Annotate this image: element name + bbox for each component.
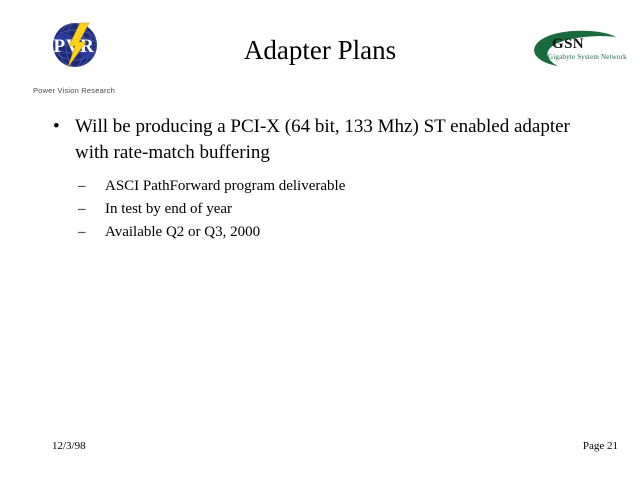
bullet-level2-text: Available Q2 or Q3, 2000 [105, 224, 260, 240]
bullet-level1-text: Will be producing a PCI-X (64 bit, 133 M… [75, 116, 570, 163]
footer-date: 12/3/98 [52, 440, 86, 452]
gsn-logo: GSN Gigabyte System Network [524, 28, 628, 74]
sub-bullet-list: – ASCI PathForward program deliverable –… [0, 175, 640, 244]
bullet-level2: – In test by end of year [0, 198, 640, 221]
slide-body: • Will be producing a PCI-X (64 bit, 133… [0, 114, 640, 244]
bullet-level2-text: In test by end of year [105, 201, 232, 217]
bullet-level2: – Available Q2 or Q3, 2000 [0, 221, 640, 244]
presentation-slide: P V R Power Vision Research Adapter Plan… [0, 0, 640, 480]
bullet-level2-text: ASCI PathForward program deliverable [105, 178, 345, 194]
bullet-marker-icon: • [53, 114, 60, 140]
bullet-level2: – ASCI PathForward program deliverable [0, 175, 640, 198]
dash-marker-icon: – [78, 175, 86, 198]
bullet-level1: • Will be producing a PCI-X (64 bit, 133… [0, 114, 585, 166]
gsn-logo-text: GSN [552, 36, 584, 53]
gsn-logo-subtitle: Gigabyte System Network [548, 53, 627, 61]
dash-marker-icon: – [78, 221, 86, 244]
dash-marker-icon: – [78, 198, 86, 221]
pvr-logo-tagline: Power Vision Research [18, 86, 130, 95]
footer-page-number: Page 21 [583, 440, 618, 452]
